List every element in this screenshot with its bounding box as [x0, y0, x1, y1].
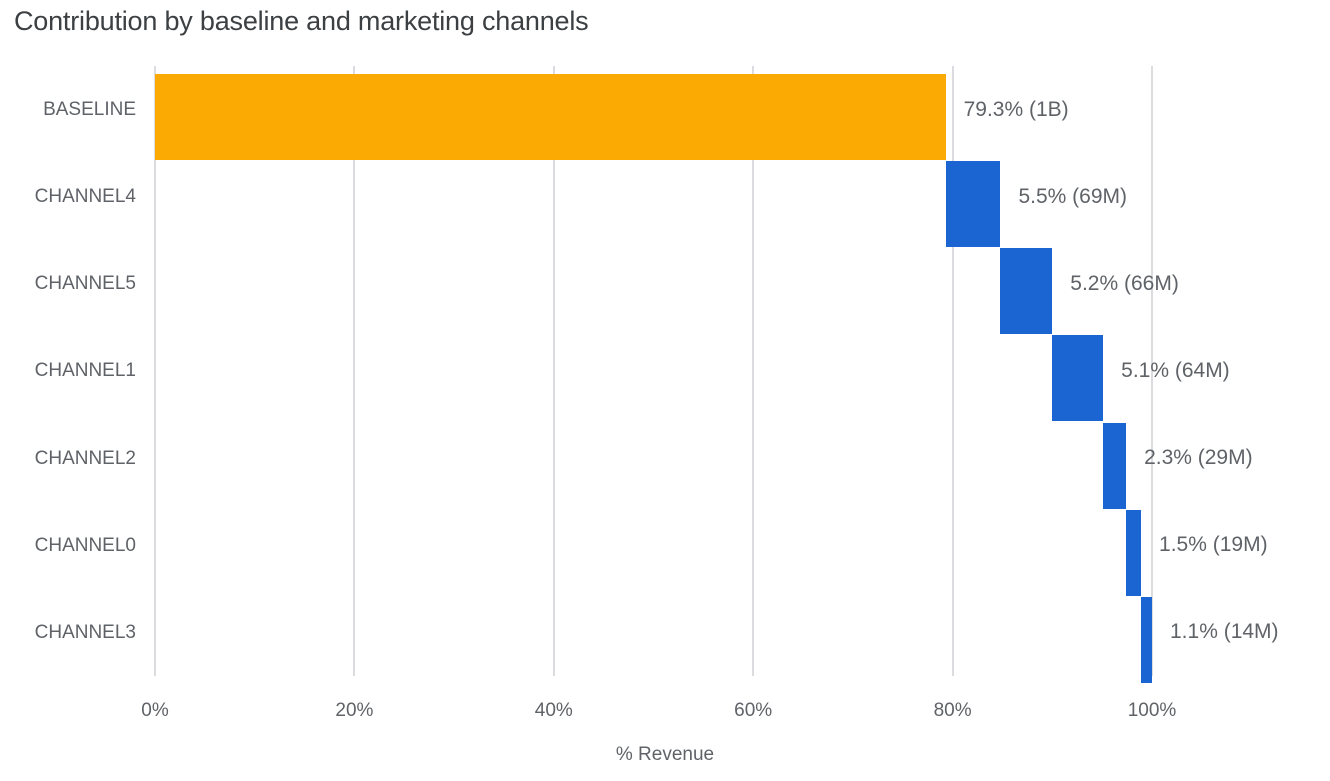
x-axis-title: % Revenue	[0, 744, 1330, 766]
bar-row-baseline: 79.3% (1B)	[155, 66, 1152, 153]
y-axis-label-channel4: CHANNEL4	[0, 153, 136, 240]
bar-channel1[interactable]	[1052, 335, 1103, 421]
bar-value-label-baseline: 79.3% (1B)	[964, 98, 1069, 122]
bar-row-channel5: 5.2% (66M)	[155, 240, 1152, 327]
x-axis-tick-100pct: 100%	[1128, 700, 1177, 722]
bar-channel4[interactable]	[946, 161, 1001, 247]
bar-value-label-channel3: 1.1% (14M)	[1170, 620, 1279, 644]
y-axis-label-channel5: CHANNEL5	[0, 240, 136, 327]
x-axis-tick-0pct: 0%	[141, 700, 168, 722]
bar-value-label-channel5: 5.2% (66M)	[1070, 272, 1179, 296]
bar-value-label-channel0: 1.5% (19M)	[1159, 533, 1268, 557]
y-axis-label-channel2: CHANNEL2	[0, 415, 136, 502]
bar-value-label-channel2: 2.3% (29M)	[1144, 446, 1253, 470]
x-axis-tick-40pct: 40%	[535, 700, 573, 722]
y-axis-category-labels: BASELINECHANNEL4CHANNEL5CHANNEL1CHANNEL2…	[0, 66, 136, 676]
y-axis-label-baseline: BASELINE	[0, 66, 136, 153]
bar-baseline[interactable]	[155, 74, 946, 160]
bar-channel3[interactable]	[1141, 597, 1152, 683]
bar-row-channel1: 5.1% (64M)	[155, 327, 1152, 414]
y-axis-label-channel0: CHANNEL0	[0, 502, 136, 589]
bar-row-channel3: 1.1% (14M)	[155, 589, 1152, 676]
bar-value-label-channel1: 5.1% (64M)	[1121, 359, 1230, 383]
x-axis-tick-20pct: 20%	[335, 700, 373, 722]
chart-title: Contribution by baseline and marketing c…	[14, 6, 588, 37]
x-axis-tick-80pct: 80%	[934, 700, 972, 722]
x-axis-tick-60pct: 60%	[734, 700, 772, 722]
y-axis-label-channel3: CHANNEL3	[0, 589, 136, 676]
bar-row-channel0: 1.5% (19M)	[155, 502, 1152, 589]
waterfall-chart: Contribution by baseline and marketing c…	[0, 0, 1330, 781]
bar-channel0[interactable]	[1126, 510, 1141, 596]
plot-area: 79.3% (1B)5.5% (69M)5.2% (66M)5.1% (64M)…	[155, 66, 1152, 676]
bar-value-label-channel4: 5.5% (69M)	[1018, 185, 1127, 209]
bar-row-channel4: 5.5% (69M)	[155, 153, 1152, 240]
x-axis-tick-labels: 0%20%40%60%80%100%	[0, 676, 1330, 736]
y-axis-label-channel1: CHANNEL1	[0, 327, 136, 414]
bar-channel2[interactable]	[1103, 423, 1126, 509]
bar-row-channel2: 2.3% (29M)	[155, 415, 1152, 502]
bar-channel5[interactable]	[1000, 248, 1052, 334]
